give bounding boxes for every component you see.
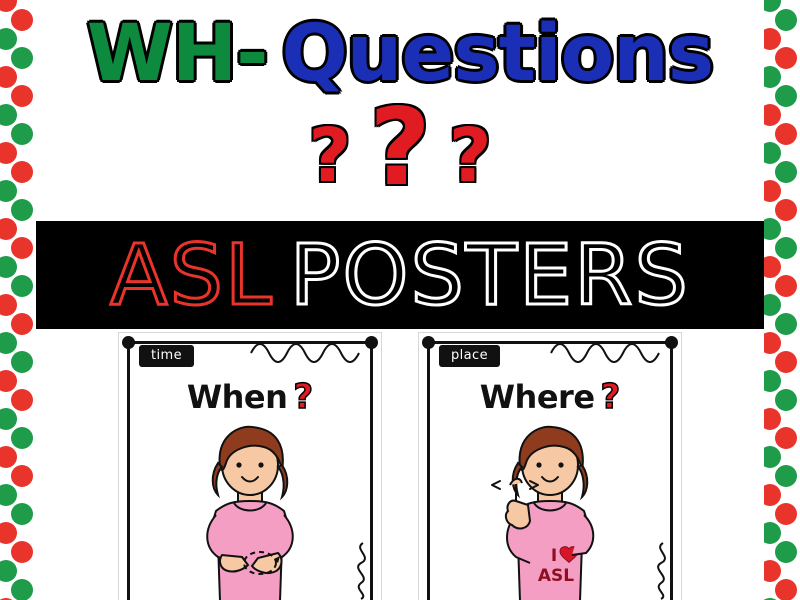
border-dot-icon: [0, 180, 17, 202]
border-dot-icon: [11, 123, 33, 145]
corner-dot-icon: [422, 336, 435, 349]
svg-text:ASL: ASL: [538, 566, 574, 586]
border-dot-icon: [11, 351, 33, 373]
border-dot-icon: [775, 237, 797, 259]
border-dot-icon: [11, 541, 33, 563]
poster-word-where: Where: [480, 378, 595, 416]
poster-question-mark-icon: ?: [601, 377, 621, 417]
border-dot-icon: [764, 142, 781, 164]
border-dot-icon: [0, 484, 17, 506]
border-dot-icon: [0, 332, 17, 354]
banner-word-asl: ASL: [110, 233, 274, 317]
border-dot-icon: [11, 85, 33, 107]
border-dot-icon: [11, 579, 33, 600]
poster-question-mark-icon: ?: [293, 377, 313, 417]
border-dot-icon: [764, 218, 781, 240]
border-dot-icon: [764, 408, 781, 430]
poster-heading: When ?: [119, 377, 381, 417]
border-dot-icon: [775, 9, 797, 31]
border-dot-icon: [0, 370, 17, 392]
border-dot-icon: [775, 85, 797, 107]
border-dot-icon: [11, 389, 33, 411]
border-dot-icon: [764, 28, 781, 50]
border-dot-icon: [11, 47, 33, 69]
border-dot-icon: [0, 218, 17, 240]
border-dot-icon: [0, 28, 17, 50]
border-dot-icon: [11, 465, 33, 487]
cover-page: WH- Questions ? ? ? ASL POSTERS time Whe…: [0, 0, 800, 600]
border-dot-icon: [775, 199, 797, 221]
border-dot-icon: [0, 104, 17, 126]
border-dot-icon: [775, 579, 797, 600]
poster-heading: Where ?: [419, 377, 681, 417]
border-dot-icon: [764, 370, 781, 392]
border-dot-icon: [775, 161, 797, 183]
border-dot-icon: [764, 446, 781, 468]
border-dot-icon: [0, 560, 17, 582]
squiggle-decoration-icon: [549, 339, 667, 363]
border-dot-icon: [764, 484, 781, 506]
banner-word-posters: POSTERS: [290, 233, 690, 317]
border-dot-icon: [764, 294, 781, 316]
border-dot-icon: [0, 66, 17, 88]
border-dot-icon: [775, 313, 797, 335]
border-dot-icon: [11, 237, 33, 259]
left-dot-border: [0, 0, 36, 600]
border-dot-icon: [11, 161, 33, 183]
border-dot-icon: [11, 199, 33, 221]
border-dot-icon: [11, 427, 33, 449]
poster-preview-where: place Where ? I ASL: [418, 332, 682, 600]
border-dot-icon: [0, 294, 17, 316]
border-dot-icon: [0, 522, 17, 544]
border-dot-icon: [775, 503, 797, 525]
border-dot-icon: [0, 142, 17, 164]
question-mark-icon: ?: [369, 95, 431, 201]
border-dot-icon: [11, 503, 33, 525]
border-dot-icon: [764, 104, 781, 126]
squiggle-decoration-icon: [249, 339, 367, 363]
title-part-questions: Questions: [281, 15, 713, 93]
svg-text:I: I: [551, 546, 557, 566]
border-dot-icon: [764, 180, 781, 202]
question-mark-icon: ?: [308, 119, 351, 193]
poster-preview-when: time When ?: [118, 332, 382, 600]
border-dot-icon: [11, 9, 33, 31]
poster-tag-time: time: [139, 345, 194, 367]
poster-tag-place: place: [439, 345, 500, 367]
poster-word-when: When: [187, 378, 288, 416]
border-dot-icon: [11, 313, 33, 335]
border-dot-icon: [764, 332, 781, 354]
subtitle-banner: ASL POSTERS: [36, 221, 764, 329]
border-dot-icon: [0, 256, 17, 278]
asl-sign-illustration-when: [160, 419, 340, 600]
border-dot-icon: [11, 275, 33, 297]
border-dot-icon: [764, 66, 781, 88]
corner-dot-icon: [122, 336, 135, 349]
border-dot-icon: [775, 389, 797, 411]
border-dot-icon: [775, 275, 797, 297]
border-dot-icon: [775, 47, 797, 69]
border-dot-icon: [775, 465, 797, 487]
asl-sign-illustration-where: I ASL: [460, 419, 640, 600]
question-mark-row: ? ? ?: [40, 100, 760, 212]
border-dot-icon: [0, 446, 17, 468]
border-dot-icon: [775, 541, 797, 563]
poster-preview-row: time When ?: [36, 332, 764, 600]
border-dot-icon: [775, 123, 797, 145]
right-dot-border: [764, 0, 800, 600]
border-dot-icon: [764, 560, 781, 582]
squiggle-decoration-icon: [649, 541, 675, 600]
border-dot-icon: [764, 522, 781, 544]
title-part-wh: WH-: [87, 15, 268, 93]
border-dot-icon: [775, 427, 797, 449]
question-mark-icon: ?: [449, 119, 492, 193]
border-dot-icon: [0, 408, 17, 430]
squiggle-decoration-icon: [349, 541, 375, 600]
border-dot-icon: [775, 351, 797, 373]
border-dot-icon: [764, 256, 781, 278]
